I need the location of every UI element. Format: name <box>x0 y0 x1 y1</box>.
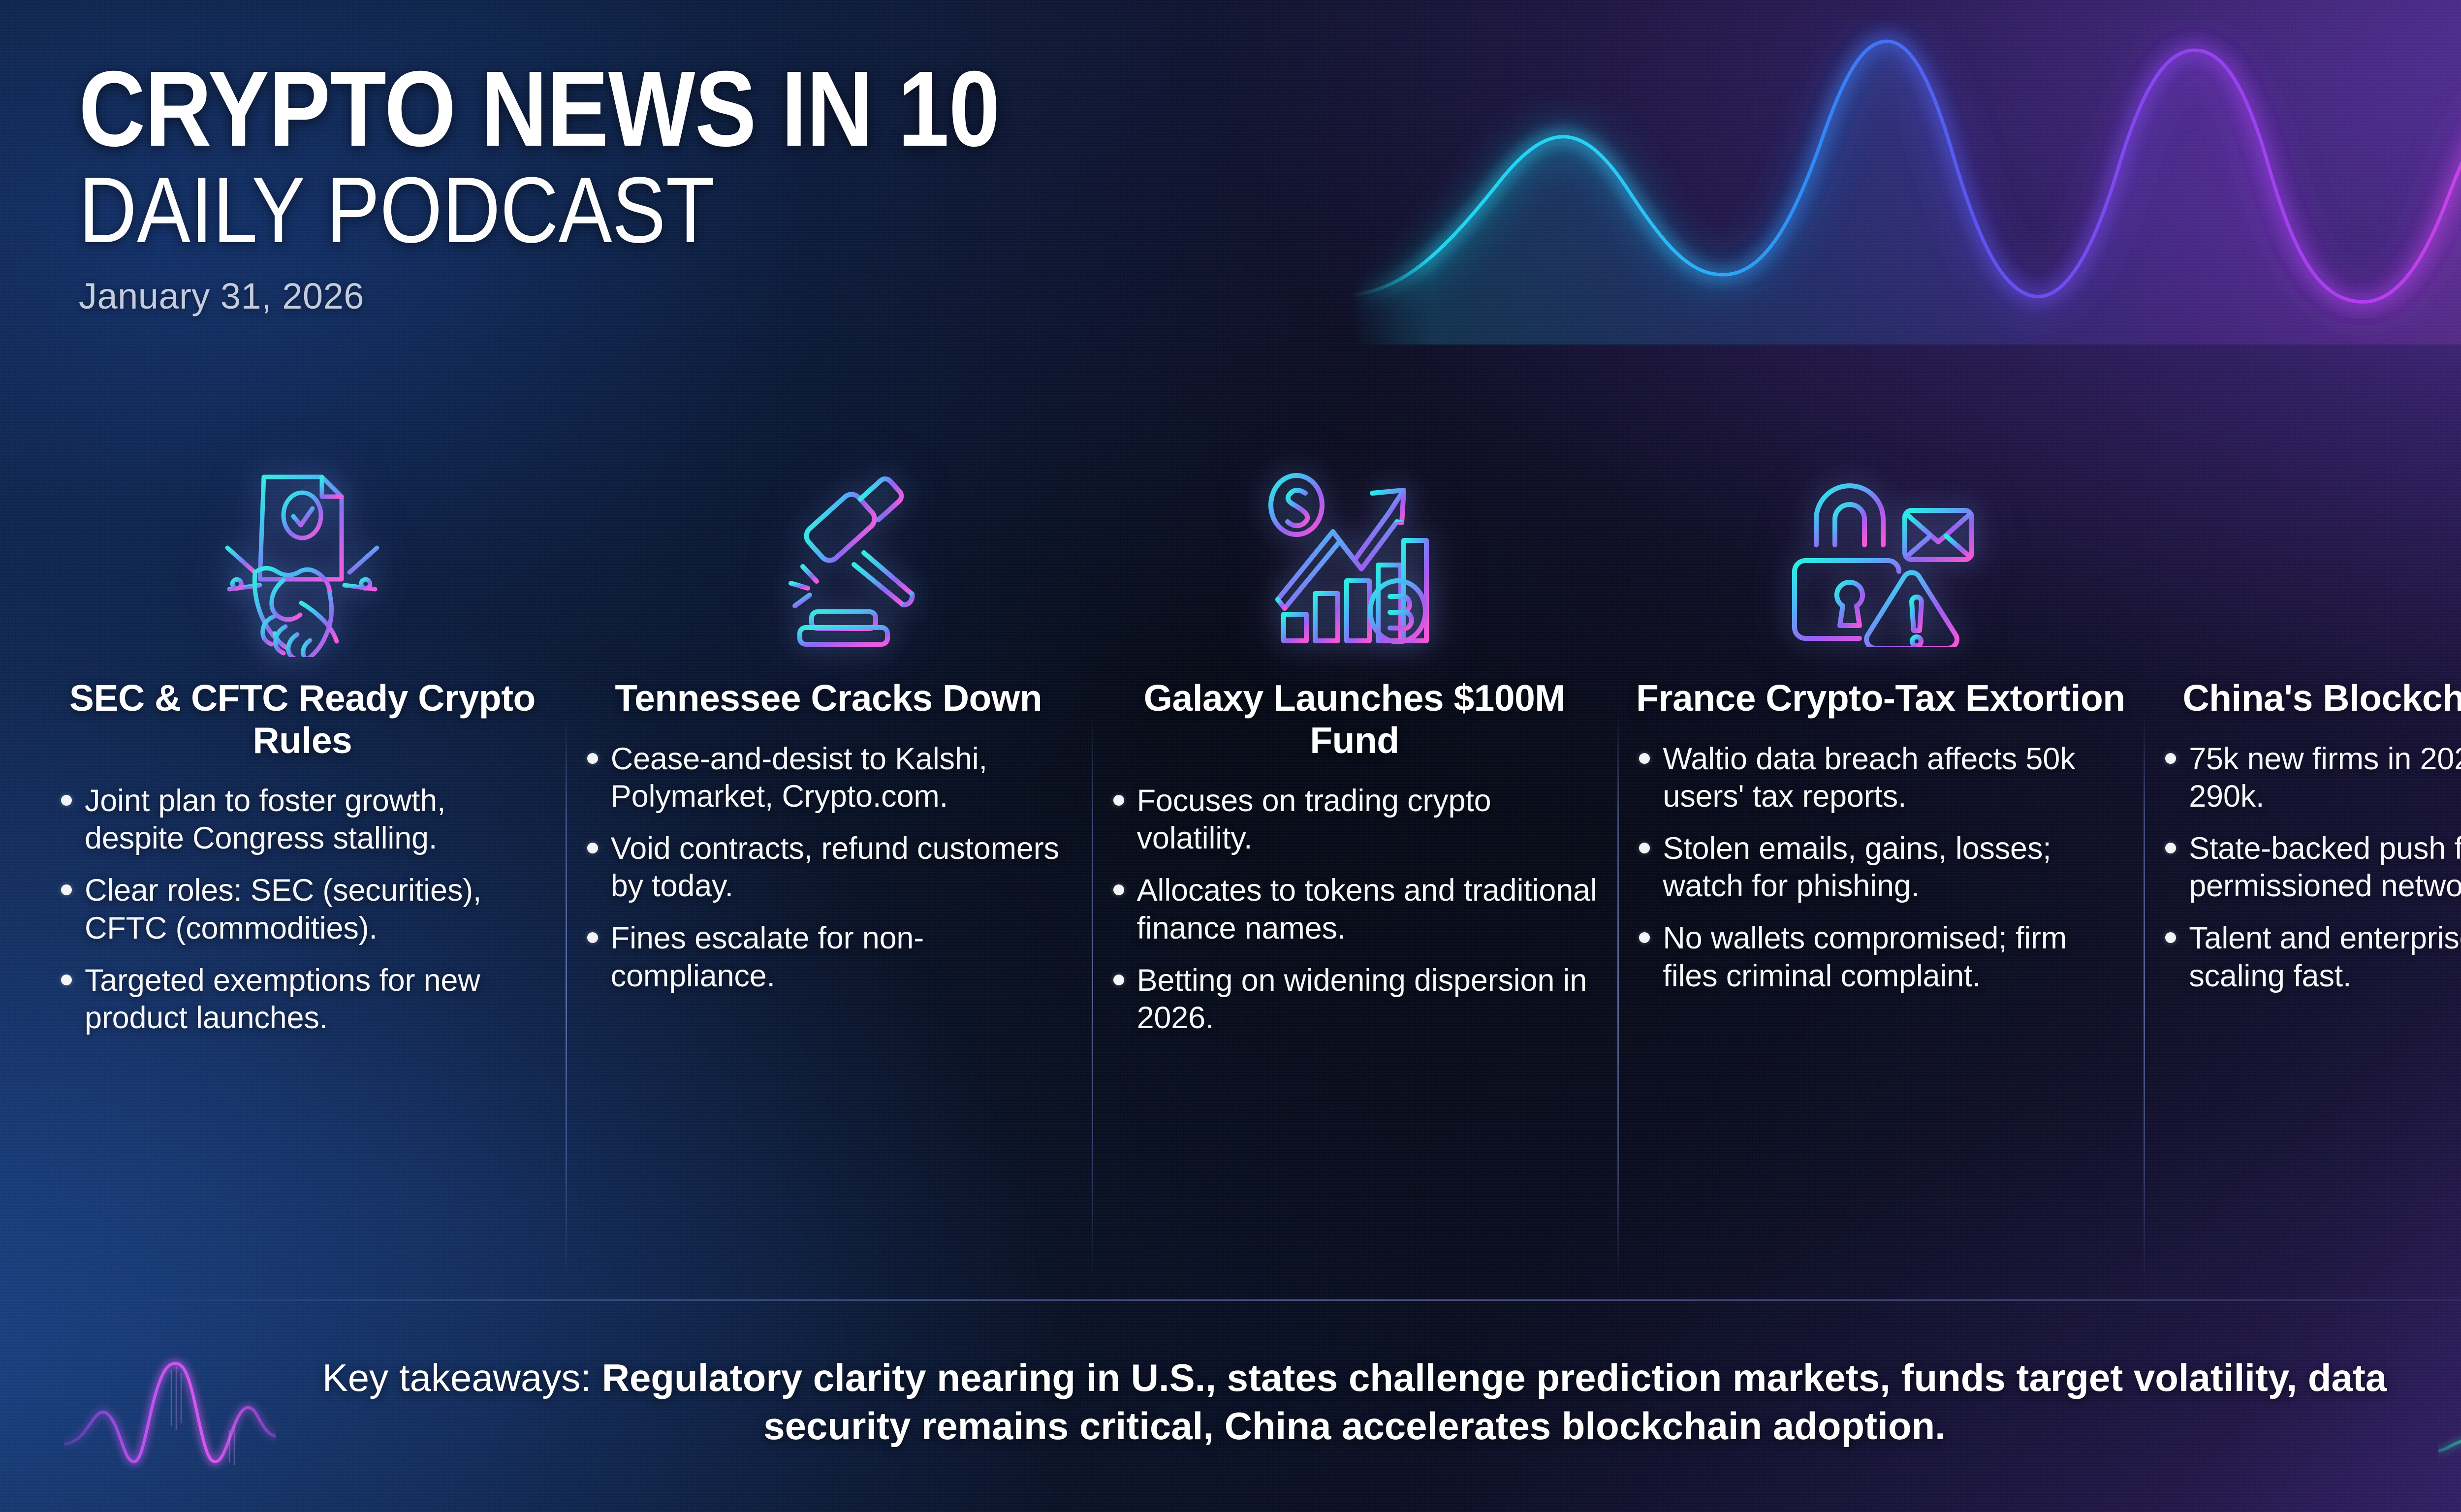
bullet-dot-icon <box>2165 753 2176 764</box>
bullet-dot-icon <box>1113 795 1124 806</box>
column-heading: SEC & CFTC Ready Crypto Rules <box>56 677 549 761</box>
bullet-dot-icon <box>1639 932 1650 943</box>
bullet-text: Joint plan to foster growth, despite Con… <box>85 782 549 857</box>
bullet-dot-icon <box>1639 843 1650 853</box>
footer-divider <box>84 1299 2461 1301</box>
gavel-sound-block-icon <box>740 443 917 674</box>
column-heading: China's Blockchain Surge <box>2182 677 2461 720</box>
list-item: Joint plan to foster growth, despite Con… <box>56 782 549 857</box>
bullet-text: Fines escalate for non-compliance. <box>611 919 1075 994</box>
bullet-text: Talent and enterprise deployment scaling… <box>2189 919 2461 994</box>
key-takeaways-label: Key takeaways: <box>322 1356 602 1399</box>
bullet-dot-icon <box>587 932 598 943</box>
padlock-envelope-warning-icon <box>1785 443 1977 674</box>
bullet-dot-icon <box>2165 843 2176 853</box>
column-bullet-list: Cease-and-desist to Kalshi, Polymarket, … <box>582 740 1075 1009</box>
news-column-china-blockchain: China's Blockchain Surge 75k new firms i… <box>2144 443 2461 1280</box>
key-takeaways-body: Regulatory clarity nearing in U.S., stat… <box>602 1356 2387 1448</box>
bullet-dot-icon <box>61 884 72 895</box>
column-bullet-list: Waltio data breach affects 50k users' ta… <box>1634 740 2127 1009</box>
list-item: Waltio data breach affects 50k users' ta… <box>1634 740 2127 815</box>
mini-waveform-left-icon <box>64 1347 276 1494</box>
bullet-text: Stolen emails, gains, losses; watch for … <box>1663 830 2127 905</box>
news-column-sec-cftc: SEC & CFTC Ready Crypto Rules Joint plan… <box>39 443 566 1280</box>
bullet-text: Cease-and-desist to Kalshi, Polymarket, … <box>611 740 1075 815</box>
list-item: Clear roles: SEC (securities), CFTC (com… <box>56 872 549 946</box>
bullet-text: Focuses on trading crypto volatility. <box>1137 782 1601 857</box>
episode-date: January 31, 2026 <box>79 275 1408 317</box>
bullet-dot-icon <box>61 975 72 985</box>
bullet-dot-icon <box>61 795 72 806</box>
bullet-dot-icon <box>587 753 598 764</box>
column-bullet-list: 75k new firms in 2025; total near 290k. … <box>2160 740 2461 1009</box>
list-item: Focuses on trading crypto volatility. <box>1108 782 1601 857</box>
mini-waveform-right-icon <box>2438 1347 2461 1494</box>
news-column-tennessee: Tennessee Cracks Down Cease-and-desist t… <box>566 443 1092 1280</box>
bullet-text: Clear roles: SEC (securities), CFTC (com… <box>85 872 549 946</box>
column-bullet-list: Focuses on trading crypto volatility. Al… <box>1108 782 1601 1051</box>
list-item: Targeted exemptions for new product laun… <box>56 962 549 1037</box>
blockchain-gear-network-icon <box>2313 443 2461 674</box>
handshake-document-check-icon <box>219 443 386 674</box>
list-item: 75k new firms in 2025; total near 290k. <box>2160 740 2461 815</box>
news-columns: SEC & CFTC Ready Crypto Rules Joint plan… <box>39 443 2461 1280</box>
bullet-dot-icon <box>1113 884 1124 895</box>
list-item: Talent and enterprise deployment scaling… <box>2160 919 2461 994</box>
list-item: No wallets compromised; firm files crimi… <box>1634 919 2127 994</box>
header-block: CRYPTO NEWS IN 10 DAILY PODCAST January … <box>79 59 1408 317</box>
bullet-text: No wallets compromised; firm files crimi… <box>1663 919 2127 994</box>
bullet-text: State-backed push for permissioned netwo… <box>2189 830 2461 905</box>
bullet-text: Targeted exemptions for new product laun… <box>85 962 549 1037</box>
list-item: Cease-and-desist to Kalshi, Polymarket, … <box>582 740 1075 815</box>
page-title: CRYPTO NEWS IN 10 <box>79 59 1222 160</box>
bullet-dot-icon <box>2165 932 2176 943</box>
column-heading: Galaxy Launches $100M Fund <box>1108 677 1601 761</box>
page-subtitle: DAILY PODCAST <box>79 163 1222 258</box>
bullet-text: Waltio data breach affects 50k users' ta… <box>1663 740 2127 815</box>
news-column-galaxy-fund: Galaxy Launches $100M Fund Focuses on tr… <box>1092 443 1618 1280</box>
column-heading: Tennessee Cracks Down <box>615 677 1042 720</box>
key-takeaways: Key takeaways: Regulatory clarity nearin… <box>276 1354 2433 1450</box>
news-column-france-tax: France Crypto-Tax Extortion Waltio data … <box>1617 443 2144 1280</box>
growth-chart-bitcoin-icon <box>1256 443 1453 674</box>
list-item: State-backed push for permissioned netwo… <box>2160 830 2461 905</box>
bullet-dot-icon <box>1639 753 1650 764</box>
list-item: Fines escalate for non-compliance. <box>582 919 1075 994</box>
bullet-text: 75k new firms in 2025; total near 290k. <box>2189 740 2461 815</box>
column-heading: France Crypto-Tax Extortion <box>1636 677 2125 720</box>
list-item: Allocates to tokens and traditional fina… <box>1108 872 1601 946</box>
hero-waveform-graphic <box>1351 20 2461 345</box>
list-item: Void contracts, refund customers by toda… <box>582 830 1075 905</box>
bullet-dot-icon <box>1113 975 1124 985</box>
list-item: Betting on widening dispersion in 2026. <box>1108 962 1601 1037</box>
list-item: Stolen emails, gains, losses; watch for … <box>1634 830 2127 905</box>
footer-block: Key takeaways: Regulatory clarity nearin… <box>0 1299 2461 1512</box>
bullet-text: Betting on widening dispersion in 2026. <box>1137 962 1601 1037</box>
bullet-dot-icon <box>587 843 598 853</box>
bullet-text: Void contracts, refund customers by toda… <box>611 830 1075 905</box>
bullet-text: Allocates to tokens and traditional fina… <box>1137 872 1601 946</box>
column-bullet-list: Joint plan to foster growth, despite Con… <box>56 782 549 1051</box>
